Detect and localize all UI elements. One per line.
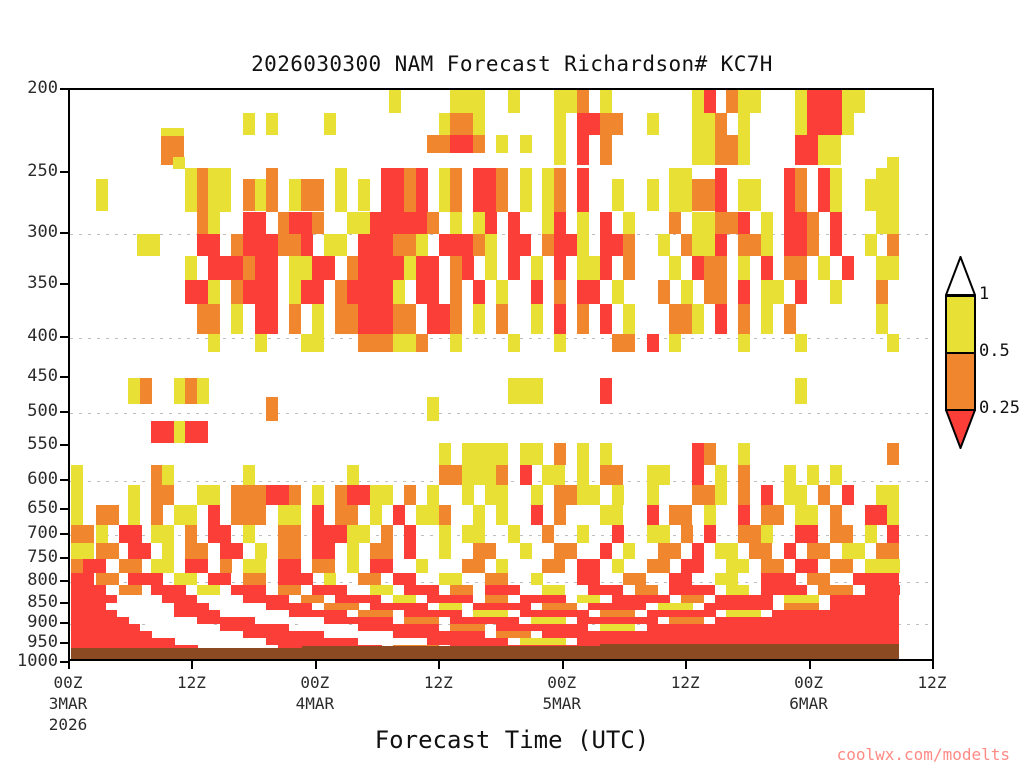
heatmap-cell bbox=[704, 443, 716, 465]
heatmap-cell bbox=[738, 443, 750, 465]
heatmap-cell bbox=[818, 135, 841, 165]
heatmap-cell bbox=[520, 595, 566, 603]
heatmap-cell bbox=[416, 280, 439, 304]
heatmap-cell bbox=[554, 88, 577, 113]
heatmap-cell bbox=[715, 113, 727, 135]
y-axis-tick-label: 900 bbox=[2, 612, 58, 632]
heatmap-cell bbox=[335, 595, 381, 603]
heatmap-cell bbox=[128, 610, 163, 617]
heatmap-cell bbox=[692, 135, 715, 165]
heatmap-cell bbox=[600, 256, 612, 280]
heatmap-cell bbox=[243, 595, 289, 603]
heatmap-cell bbox=[865, 505, 888, 525]
heatmap-cell bbox=[71, 610, 117, 617]
colorbar-tick-label: 1 bbox=[979, 284, 989, 304]
y-axis-tick bbox=[60, 88, 68, 90]
x-axis-tick bbox=[932, 661, 934, 669]
heatmap-cell bbox=[508, 88, 520, 113]
heatmap-cell bbox=[600, 624, 635, 631]
heatmap-cell bbox=[738, 179, 761, 211]
heatmap-cell bbox=[128, 378, 140, 404]
heatmap-cell bbox=[96, 525, 108, 543]
heatmap-cell bbox=[347, 465, 359, 485]
colorbar-legend: 10.50.25 bbox=[945, 295, 976, 467]
heatmap-cell bbox=[389, 88, 401, 113]
heatmap-cell bbox=[197, 617, 255, 624]
heatmap-cell bbox=[726, 559, 749, 573]
heatmap-cell bbox=[231, 304, 243, 334]
heatmap-cell bbox=[738, 113, 750, 135]
x-tick-day: 4MAR bbox=[296, 693, 335, 714]
heatmap-cell bbox=[715, 168, 727, 212]
heatmap-cell bbox=[439, 603, 462, 610]
heatmap-cell bbox=[151, 505, 163, 525]
heatmap-cell bbox=[312, 525, 347, 543]
colorbar-band-mid bbox=[945, 352, 976, 409]
heatmap-cell bbox=[71, 559, 83, 573]
heatmap-cell bbox=[243, 234, 278, 256]
heatmap-cell bbox=[324, 113, 336, 135]
y-axis-tick bbox=[60, 336, 68, 338]
heatmap-cell bbox=[669, 573, 692, 585]
heatmap-cell bbox=[600, 610, 635, 617]
heatmap-cell bbox=[347, 280, 393, 304]
heatmap-cell bbox=[692, 113, 715, 135]
heatmap-cell bbox=[704, 525, 716, 543]
y-axis-tick bbox=[60, 508, 68, 510]
heatmap-cell bbox=[704, 256, 727, 280]
heatmap-cell bbox=[140, 617, 186, 624]
heatmap-cell bbox=[554, 234, 577, 256]
heatmap-cell bbox=[335, 304, 358, 334]
heatmap-cell bbox=[404, 617, 439, 624]
heatmap-cell bbox=[151, 585, 186, 595]
heatmap-cell bbox=[554, 256, 566, 280]
heatmap-cell bbox=[301, 234, 313, 256]
heatmap-cell bbox=[784, 304, 796, 334]
heatmap-cell bbox=[761, 573, 796, 585]
heatmap-cell bbox=[647, 179, 659, 211]
heatmap-cell bbox=[738, 505, 750, 525]
heatmap-cell bbox=[485, 485, 508, 505]
heatmap-cell bbox=[278, 585, 301, 595]
heatmap-cell bbox=[462, 443, 497, 465]
heatmap-cell bbox=[830, 505, 842, 525]
heatmap-cell bbox=[231, 505, 266, 525]
y-axis-tick bbox=[60, 533, 68, 535]
heatmap-cell bbox=[784, 465, 796, 485]
x-axis-tick-label: 00Z4MAR bbox=[296, 672, 335, 714]
heatmap-cell bbox=[830, 595, 899, 603]
x-tick-time: 00Z bbox=[542, 672, 581, 693]
heatmap-cell bbox=[554, 280, 566, 304]
heatmap-cell bbox=[96, 573, 119, 585]
heatmap-cell bbox=[600, 135, 612, 165]
heatmap-cell bbox=[243, 212, 266, 234]
heatmap-cell bbox=[450, 113, 473, 135]
heatmap-cell bbox=[520, 443, 543, 465]
heatmap-cell bbox=[393, 595, 416, 603]
heatmap-cell bbox=[416, 505, 439, 525]
heatmap-cell bbox=[289, 610, 347, 617]
heatmap-cell bbox=[588, 585, 623, 595]
heatmap-cell bbox=[647, 113, 659, 135]
heatmap-cell bbox=[450, 212, 462, 234]
heatmap-cell bbox=[404, 585, 439, 595]
heatmap-cell bbox=[185, 280, 208, 304]
heatmap-cell bbox=[404, 525, 416, 543]
x-tick-day: 5MAR bbox=[542, 693, 581, 714]
heatmap-cell bbox=[301, 334, 324, 352]
heatmap-cell bbox=[220, 559, 232, 573]
heatmap-cell bbox=[243, 113, 255, 135]
heatmap-cell bbox=[71, 617, 129, 624]
heatmap-cell bbox=[335, 505, 358, 525]
heatmap-cell bbox=[795, 378, 807, 404]
heatmap-cell bbox=[71, 585, 106, 595]
heatmap-cell bbox=[554, 304, 566, 334]
heatmap-cell bbox=[416, 168, 428, 212]
y-axis-tick-label: 250 bbox=[2, 161, 58, 181]
y-axis-tick-label: 300 bbox=[2, 222, 58, 242]
heatmap-cell bbox=[485, 595, 508, 603]
heatmap-cell bbox=[795, 113, 807, 135]
heatmap-cell bbox=[427, 304, 450, 334]
heatmap-cell bbox=[450, 168, 462, 212]
heatmap-cell bbox=[278, 543, 301, 559]
heatmap-cell bbox=[692, 465, 704, 485]
heatmap-cell bbox=[600, 378, 612, 404]
heatmap-cell bbox=[174, 505, 197, 525]
heatmap-cell bbox=[185, 256, 197, 280]
heatmap-cell bbox=[612, 334, 635, 352]
heatmap-cell bbox=[151, 525, 174, 543]
y-axis-tick bbox=[60, 479, 68, 481]
x-axis-tick bbox=[438, 661, 440, 669]
heatmap-cell bbox=[462, 465, 497, 485]
heatmap-cell bbox=[681, 280, 693, 304]
heatmap-cell bbox=[612, 179, 624, 211]
heatmap-cell bbox=[842, 485, 854, 505]
colorbar-tick bbox=[945, 409, 976, 411]
heatmap-cell bbox=[197, 378, 209, 404]
y-axis-tick-label: 350 bbox=[2, 273, 58, 293]
heatmap-cell bbox=[577, 234, 589, 256]
heatmap-cell bbox=[473, 280, 485, 304]
heatmap-cell bbox=[577, 443, 589, 465]
heatmap-cell bbox=[784, 485, 807, 505]
heatmap-cell bbox=[542, 603, 577, 610]
heatmap-cell bbox=[795, 505, 818, 525]
heatmap-cell bbox=[669, 505, 692, 525]
heatmap-cell bbox=[647, 559, 670, 573]
heatmap-cell bbox=[887, 234, 899, 256]
heatmap-cell bbox=[162, 595, 197, 603]
heatmap-cell bbox=[795, 280, 807, 304]
heatmap-cell bbox=[393, 505, 405, 525]
heatmap-cell bbox=[600, 543, 612, 559]
heatmap-cell bbox=[887, 505, 899, 525]
heatmap-cell bbox=[185, 525, 197, 543]
heatmap-cell bbox=[208, 525, 231, 543]
heatmap-cell bbox=[692, 179, 715, 211]
heatmap-cell bbox=[427, 212, 439, 234]
x-axis-tick-label: 12Z bbox=[177, 672, 206, 693]
heatmap-cell bbox=[496, 280, 508, 304]
heatmap-cell bbox=[795, 168, 807, 212]
chart-page: 2026030300 NAM Forecast Richardson# KC7H… bbox=[0, 0, 1024, 768]
heatmap-cell bbox=[738, 256, 750, 280]
heatmap-cell bbox=[600, 113, 623, 135]
heatmap-cell bbox=[554, 334, 566, 352]
heatmap-cell bbox=[531, 485, 543, 505]
heatmap-cell bbox=[335, 485, 347, 505]
heatmap-cell bbox=[404, 256, 416, 280]
heatmap-cell bbox=[96, 179, 108, 211]
heatmap-cell bbox=[647, 505, 659, 525]
heatmap-cell bbox=[520, 610, 589, 617]
heatmap-cell bbox=[289, 304, 301, 334]
heatmap-cell bbox=[531, 505, 543, 525]
heatmap-cell bbox=[197, 234, 220, 256]
heatmap-cell bbox=[312, 304, 324, 334]
heatmap-cell bbox=[600, 234, 623, 256]
heatmap-cell bbox=[508, 334, 520, 352]
heatmap-cell bbox=[220, 624, 289, 631]
heatmap-cell bbox=[162, 465, 174, 485]
heatmap-cell bbox=[71, 595, 117, 603]
heatmap-cell bbox=[473, 304, 485, 334]
heatmap-cell bbox=[577, 212, 589, 234]
heatmap-cell bbox=[508, 378, 531, 404]
heatmap-cell bbox=[761, 234, 773, 256]
heatmap-cell bbox=[161, 128, 184, 136]
heatmap-cell bbox=[462, 559, 485, 573]
heatmap-cell bbox=[669, 168, 692, 212]
x-axis-ticks bbox=[68, 661, 934, 671]
x-axis-tick bbox=[68, 661, 70, 669]
heatmap-cell bbox=[830, 234, 842, 256]
heatmap-cell bbox=[647, 624, 899, 631]
y-axis-tick bbox=[60, 411, 68, 413]
heatmap-cell bbox=[393, 334, 416, 352]
heatmap-cell bbox=[600, 465, 623, 485]
heatmap-cell bbox=[312, 256, 335, 280]
y-axis-tick-label: 1000 bbox=[2, 651, 58, 671]
heatmap-cell bbox=[347, 525, 370, 543]
heatmap-cell bbox=[520, 168, 532, 212]
heatmap-cell bbox=[96, 543, 119, 559]
heatmap-cell bbox=[508, 212, 520, 234]
heatmap-cell bbox=[600, 212, 612, 234]
heatmap-cell bbox=[496, 168, 508, 212]
heatmap-cell bbox=[231, 234, 243, 256]
heatmap-cell bbox=[404, 168, 416, 212]
heatmap-cell bbox=[887, 525, 899, 543]
heatmap-cell bbox=[715, 485, 727, 505]
heatmap-cell bbox=[473, 212, 485, 234]
heatmap-cell bbox=[554, 485, 577, 505]
heatmap-cell bbox=[887, 334, 899, 352]
heatmap-cell bbox=[370, 505, 382, 525]
heatmap-cell bbox=[255, 304, 278, 334]
heatmap-cell bbox=[185, 378, 197, 404]
heatmap-cell bbox=[738, 334, 750, 352]
heatmap-cell bbox=[462, 525, 485, 543]
heatmap-cell bbox=[289, 179, 301, 211]
heatmap-cell bbox=[71, 505, 83, 525]
heatmap-cell bbox=[554, 168, 566, 212]
terrain-segment bbox=[302, 646, 600, 659]
heatmap-cell bbox=[485, 573, 508, 585]
heatmap-cell bbox=[393, 304, 416, 334]
heatmap-cell bbox=[876, 280, 888, 304]
heatmap-cell bbox=[577, 617, 658, 624]
heatmap-cell bbox=[761, 280, 784, 304]
heatmap-cell bbox=[692, 485, 715, 505]
heatmap-cell bbox=[185, 421, 208, 443]
heatmap-cell bbox=[208, 280, 220, 304]
heatmap-cell bbox=[358, 610, 393, 617]
colorbar-tick-label: 0.25 bbox=[979, 398, 1020, 418]
heatmap-plot-area bbox=[68, 88, 934, 661]
heatmap-cell bbox=[197, 485, 220, 505]
heatmap-cell bbox=[174, 573, 197, 585]
heatmap-cell bbox=[231, 585, 266, 595]
heatmap-cell bbox=[865, 585, 900, 595]
heatmap-cell bbox=[289, 212, 312, 234]
heatmap-cell bbox=[865, 234, 877, 256]
heatmap-cell bbox=[324, 573, 336, 585]
heatmap-cell bbox=[370, 585, 393, 595]
heatmap-cell bbox=[749, 543, 772, 559]
heatmap-cell bbox=[577, 595, 600, 603]
heatmap-cell bbox=[542, 234, 554, 256]
heatmap-cell bbox=[772, 610, 899, 617]
heatmap-cell bbox=[450, 624, 485, 631]
heatmap-cell bbox=[647, 334, 659, 352]
heatmap-cell bbox=[117, 603, 163, 610]
y-axis-labels: 2002503003504004505005506006507007508008… bbox=[0, 88, 58, 661]
heatmap-cell bbox=[842, 88, 865, 113]
x-tick-day: 6MAR bbox=[789, 693, 828, 714]
x-axis-tick-label: 12Z bbox=[671, 672, 700, 693]
heatmap-cell bbox=[647, 485, 659, 505]
heatmap-cell bbox=[404, 485, 416, 505]
heatmap-cell bbox=[243, 280, 278, 304]
heatmap-cell bbox=[554, 505, 566, 525]
heatmap-cell bbox=[554, 135, 566, 165]
heatmap-cell bbox=[358, 334, 393, 352]
x-axis-labels: 00Z3MAR202612Z00Z4MAR12Z00Z5MAR12Z00Z6MA… bbox=[0, 672, 1024, 732]
heatmap-cell bbox=[220, 603, 255, 610]
heatmap-cell bbox=[485, 234, 497, 256]
heatmap-cell bbox=[761, 559, 784, 573]
heatmap-cell bbox=[612, 485, 624, 505]
heatmap-cell bbox=[807, 212, 819, 234]
heatmap-cell bbox=[508, 256, 520, 280]
heatmap-cell bbox=[554, 113, 566, 135]
heatmap-cell bbox=[381, 168, 404, 212]
y-axis-tick bbox=[60, 376, 68, 378]
heatmap-cell bbox=[807, 88, 842, 113]
heatmap-cell bbox=[531, 573, 543, 585]
heatmap-cell bbox=[830, 559, 853, 573]
heatmap-cell bbox=[554, 443, 566, 465]
heatmap-cell bbox=[266, 603, 312, 610]
heatmap-cell bbox=[876, 485, 899, 505]
terrain-segment bbox=[232, 648, 302, 659]
heatmap-cell bbox=[887, 443, 899, 465]
heatmap-cell bbox=[496, 624, 588, 631]
x-axis-tick bbox=[315, 661, 317, 669]
heatmap-cell bbox=[335, 168, 347, 212]
heatmap-cell bbox=[278, 573, 313, 585]
heatmap-cell bbox=[876, 304, 888, 334]
heatmap-cell bbox=[876, 256, 899, 280]
heatmap-cell bbox=[301, 624, 347, 631]
x-tick-time: 12Z bbox=[424, 672, 453, 693]
heatmap-cell bbox=[531, 617, 566, 624]
x-tick-time: 00Z bbox=[789, 672, 828, 693]
y-axis-tick-label: 400 bbox=[2, 326, 58, 346]
heatmap-cell bbox=[692, 304, 704, 334]
heatmap-cell bbox=[623, 256, 635, 280]
heatmap-cell bbox=[520, 465, 532, 485]
heatmap-cell bbox=[404, 543, 416, 559]
heatmap-cell bbox=[784, 543, 796, 559]
heatmap-cell bbox=[473, 543, 496, 559]
heatmap-cell bbox=[450, 585, 473, 595]
heatmap-cell bbox=[830, 212, 842, 234]
heatmap-cell bbox=[669, 334, 681, 352]
heatmap-cell bbox=[358, 624, 439, 631]
heatmap-cell bbox=[393, 234, 416, 256]
heatmap-cell bbox=[427, 135, 450, 153]
heatmap-cell bbox=[795, 88, 807, 113]
heatmap-cell bbox=[324, 617, 393, 624]
heatmap-cell bbox=[658, 280, 670, 304]
heatmap-cell bbox=[151, 624, 209, 631]
y-axis-tick-label: 800 bbox=[2, 570, 58, 590]
heatmap-cell bbox=[358, 179, 370, 211]
x-tick-time: 12Z bbox=[918, 672, 947, 693]
heatmap-cell bbox=[370, 603, 428, 610]
heatmap-cell bbox=[462, 256, 474, 280]
heatmap-cell bbox=[669, 304, 692, 334]
heatmap-cell bbox=[830, 465, 842, 485]
heatmap-cell bbox=[255, 543, 267, 559]
heatmap-cell bbox=[208, 334, 220, 352]
heatmap-cell bbox=[71, 525, 94, 543]
heatmap-cell bbox=[784, 212, 807, 234]
heatmap-cell bbox=[669, 256, 681, 280]
heatmap-cell bbox=[681, 559, 704, 573]
heatmap-cell bbox=[312, 585, 347, 595]
heatmap-cell bbox=[542, 585, 565, 595]
heatmap-cell bbox=[738, 280, 750, 304]
heatmap-cell bbox=[692, 543, 704, 559]
y-axis-tick-label: 450 bbox=[2, 366, 58, 386]
heatmap-cell bbox=[208, 505, 220, 525]
heatmap-cell bbox=[761, 212, 773, 234]
heatmap-cell bbox=[335, 280, 347, 304]
heatmap-cell bbox=[830, 525, 853, 543]
heatmap-cell bbox=[795, 525, 818, 543]
heatmap-cell bbox=[577, 280, 600, 304]
x-tick-time: 12Z bbox=[671, 672, 700, 693]
heatmap-cell bbox=[289, 256, 312, 280]
